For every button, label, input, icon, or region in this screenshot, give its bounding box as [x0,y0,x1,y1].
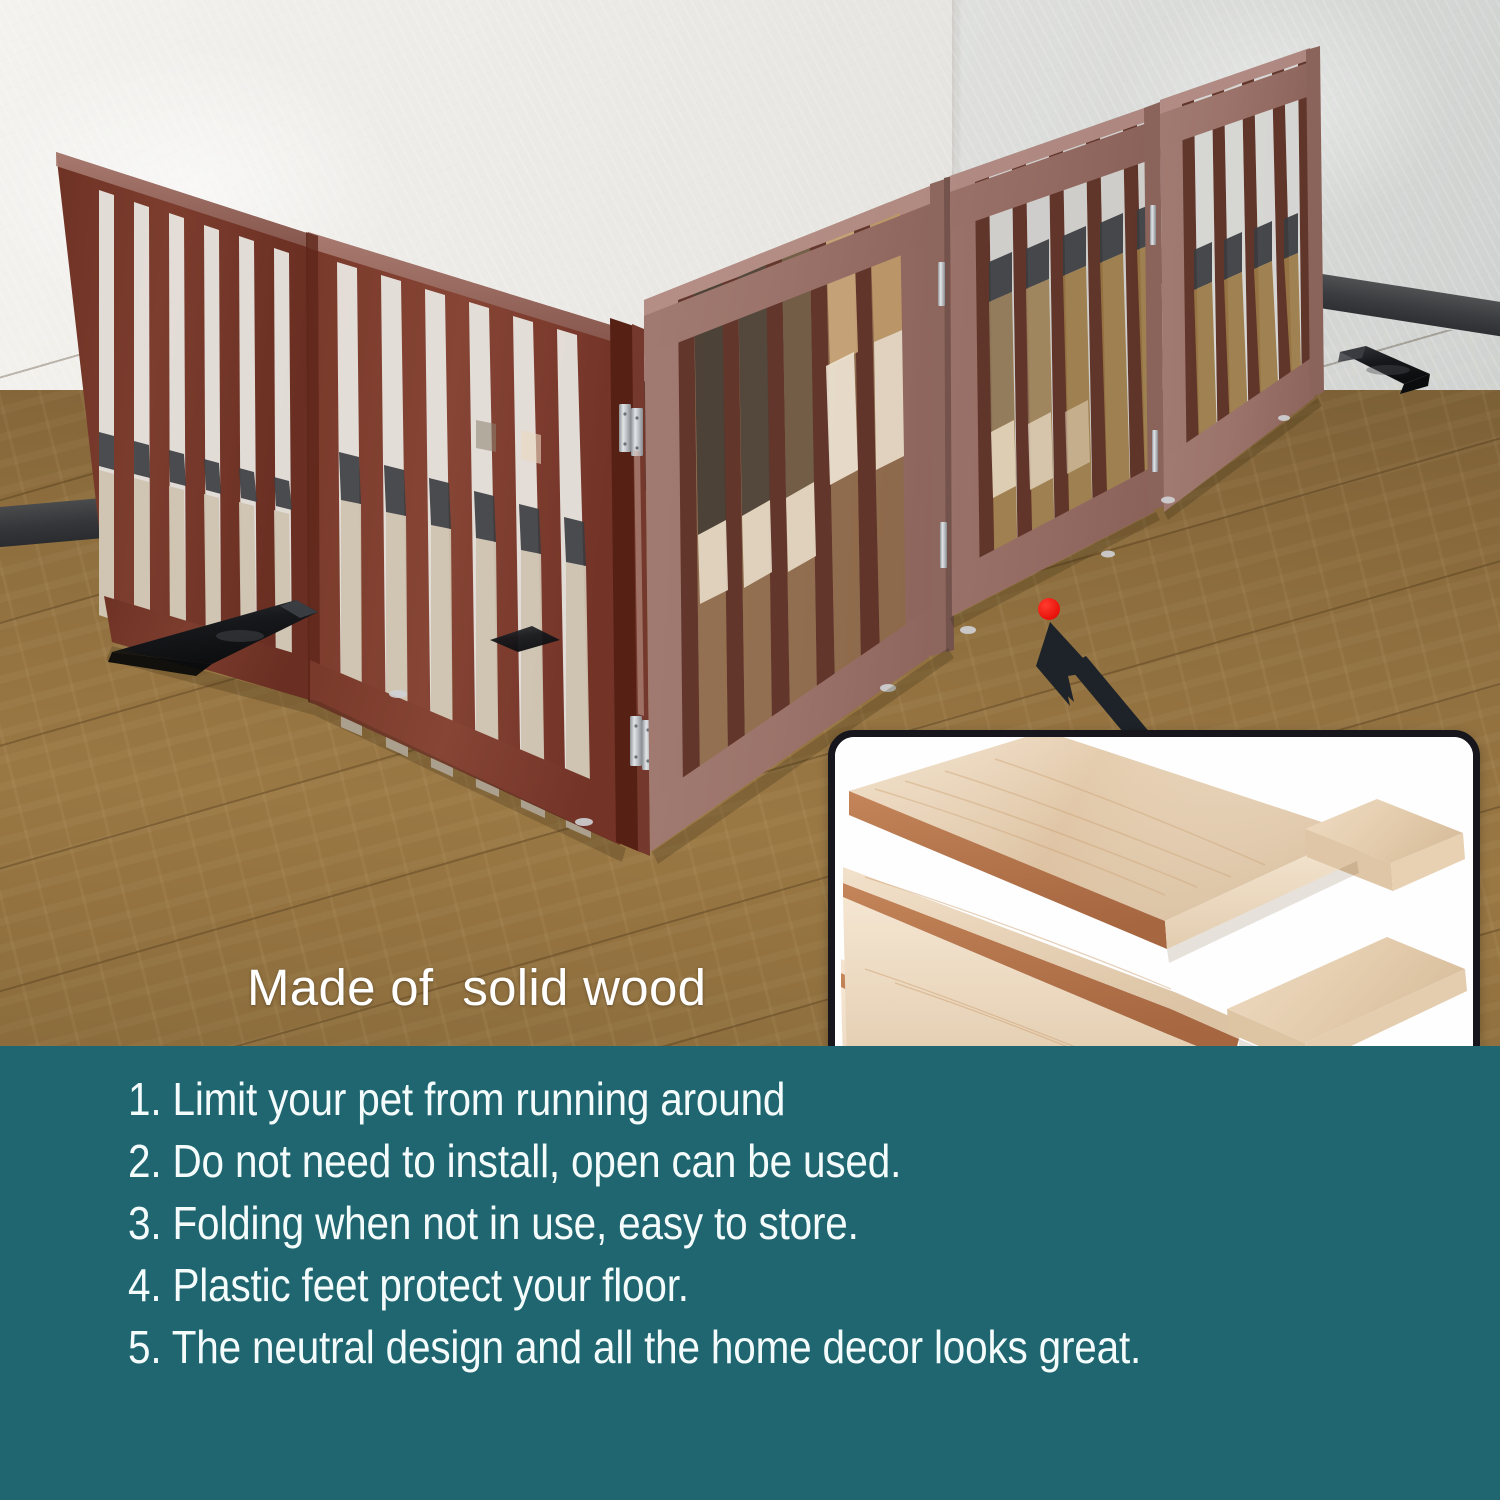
hinge-icon [938,262,945,306]
solid-wood-inset-photo [835,737,1473,1046]
feature-list-panel: 1. Limit your pet from running around 2.… [0,1046,1500,1500]
list-item: 4. Plastic feet protect your floor. [128,1254,1290,1316]
feature-list: 1. Limit your pet from running around 2.… [128,1068,1448,1378]
hinge-icon [940,522,947,568]
plastic-foot-right [1338,346,1430,394]
gate-panel-4 [950,106,1154,616]
gate-panel-2 [306,232,620,845]
hinge-icon [1150,205,1156,245]
product-feature-image: Made of solid wood [0,0,1500,1500]
solid-wood-caption: Made of solid wood [247,958,706,1017]
list-item: 1. Limit your pet from running around [128,1068,1290,1130]
hinge-icon [1152,430,1158,472]
gate-panel-5 [1160,48,1314,512]
list-item: 3. Folding when not in use, easy to stor… [128,1192,1290,1254]
solid-wood-inset [828,730,1480,1046]
list-item: 2. Do not need to install, open can be u… [128,1130,1290,1192]
product-photo: Made of solid wood [0,0,1500,1046]
hinge-icon [619,404,643,456]
list-item: 5. The neutral design and all the home d… [128,1316,1290,1378]
